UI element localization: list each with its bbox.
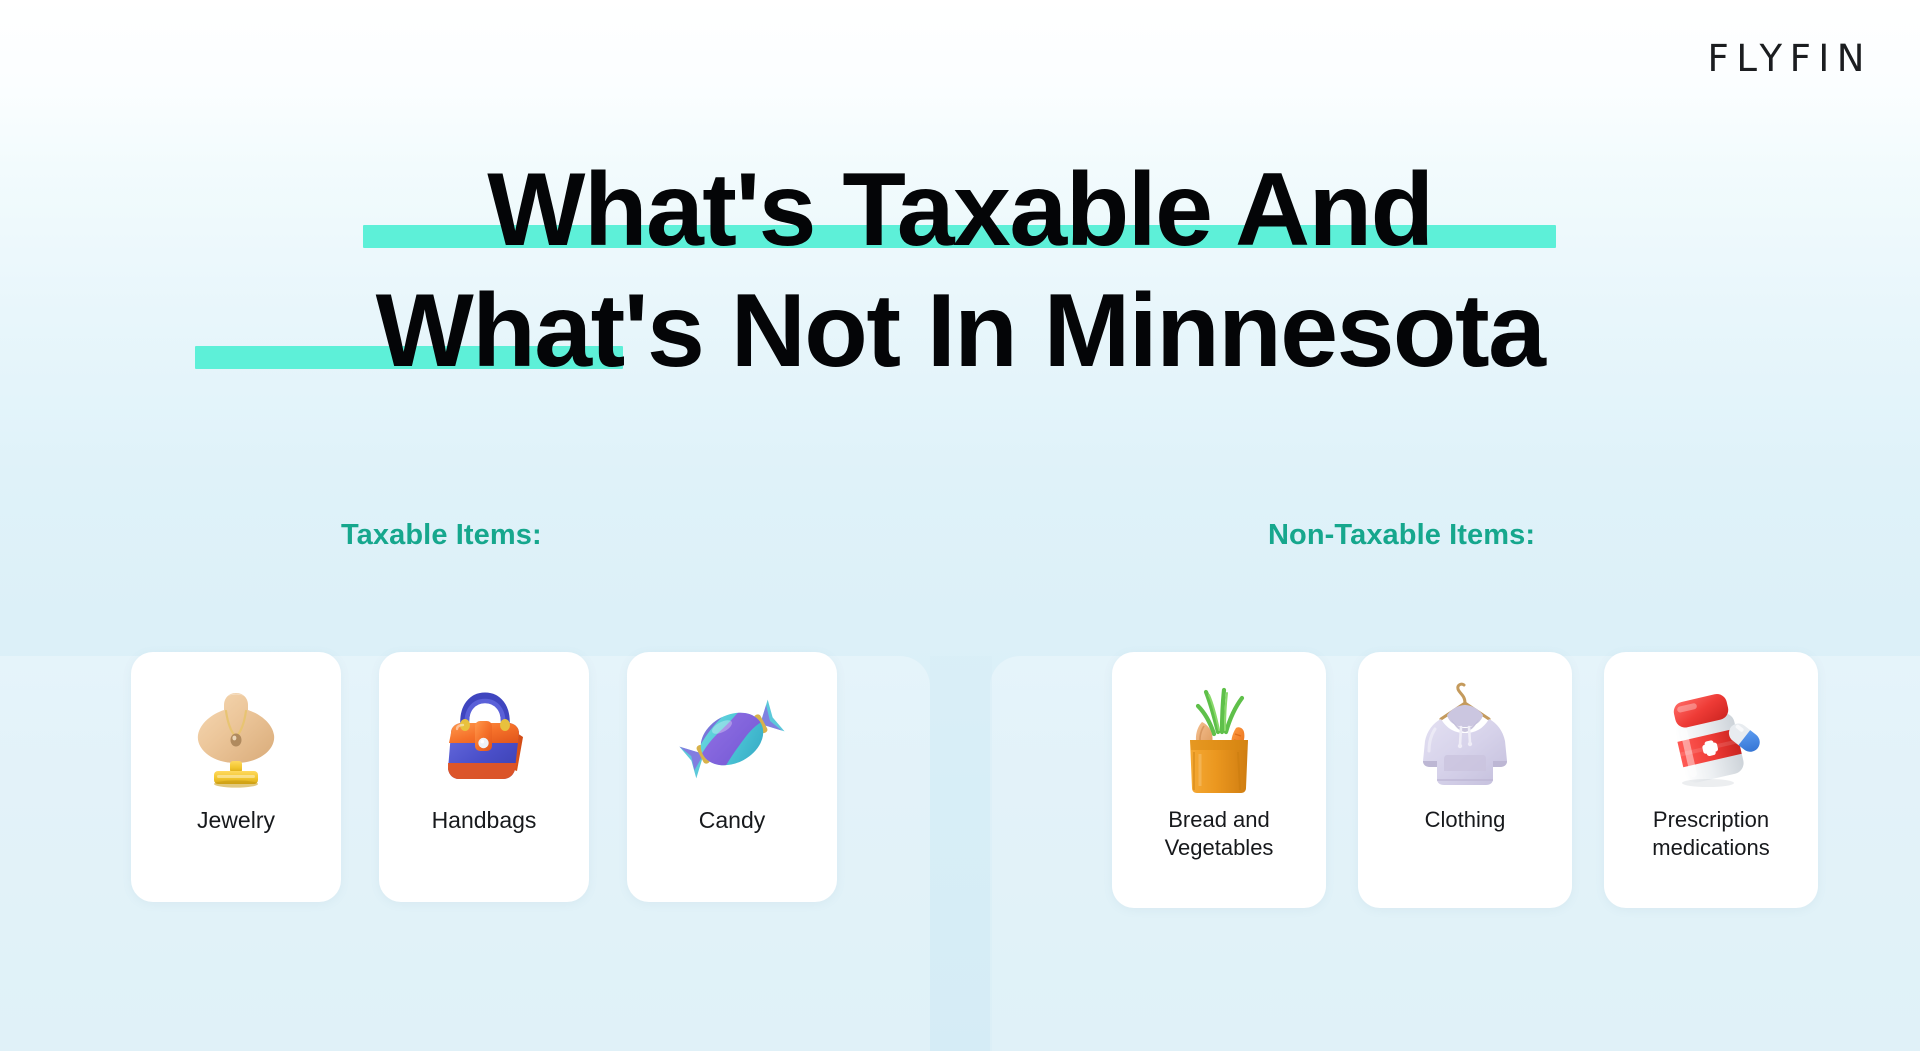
- title-line-1: What's Taxable And: [0, 150, 1920, 271]
- card-candy[interactable]: Candy: [627, 652, 837, 902]
- background-panel-seam: [930, 656, 992, 1051]
- pill-bottle-capsule-icon: [1655, 678, 1767, 800]
- card-prescription-medications[interactable]: Prescription medications: [1604, 652, 1818, 908]
- card-label: Handbags: [422, 806, 547, 835]
- title-line-1-text: What's Taxable And: [487, 152, 1432, 268]
- flyfin-logo: FLYFIN: [1708, 40, 1872, 77]
- jewelry-necklace-bust-icon: [180, 678, 292, 800]
- non-taxable-card-row: Bread and Vegetables: [1112, 652, 1818, 908]
- grocery-bag-vegetables-icon: [1163, 678, 1275, 800]
- card-jewelry[interactable]: Jewelry: [131, 652, 341, 902]
- hoodie-on-hanger-icon: [1409, 678, 1521, 800]
- taxable-section-heading: Taxable Items:: [341, 519, 542, 552]
- title-line-2: What's Not In Minnesota: [0, 271, 1920, 392]
- card-label: Jewelry: [187, 806, 285, 835]
- card-clothing[interactable]: Clothing: [1358, 652, 1572, 908]
- card-label: Clothing: [1415, 806, 1516, 834]
- non-taxable-section-heading: Non-Taxable Items:: [1268, 519, 1535, 552]
- card-label: Prescription medications: [1604, 806, 1818, 862]
- handbag-icon: [428, 678, 540, 800]
- card-bread-and-vegetables[interactable]: Bread and Vegetables: [1112, 652, 1326, 908]
- page-title: What's Taxable And What's Not In Minneso…: [0, 150, 1920, 391]
- taxable-card-row: Jewelry: [131, 652, 837, 902]
- card-handbags[interactable]: Handbags: [379, 652, 589, 902]
- title-line-2-text: What's Not In Minnesota: [376, 273, 1545, 389]
- card-label: Candy: [689, 806, 775, 835]
- infographic-canvas: FLYFIN What's Taxable And What's Not In …: [0, 0, 1920, 1051]
- wrapped-candy-icon: [676, 678, 788, 800]
- card-label: Bread and Vegetables: [1112, 806, 1326, 862]
